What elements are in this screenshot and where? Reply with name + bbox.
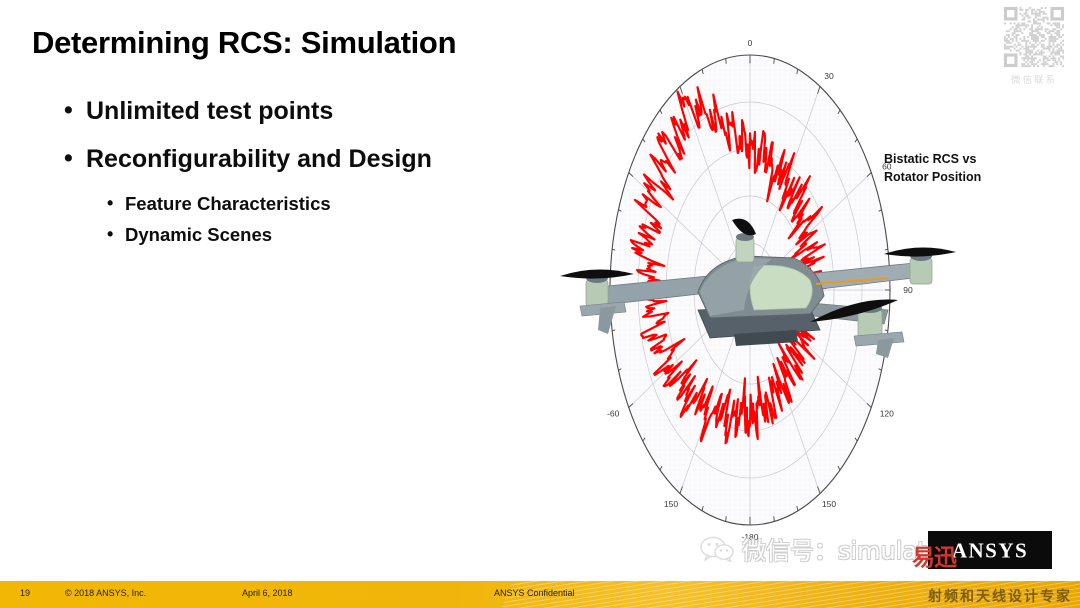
bullet-text: Feature Characteristics <box>125 194 331 215</box>
polar-angle-label: -60 <box>607 409 620 419</box>
bullet-item-4: • Dynamic Scenes <box>107 225 544 246</box>
slide-canvas: Determining RCS: Simulation • Unlimited … <box>0 0 1080 608</box>
polar-angle-label: 30 <box>824 71 834 81</box>
bullet-dot-icon: • <box>107 194 125 214</box>
bullet-list: • Unlimited test points • Reconfigurabil… <box>64 98 544 255</box>
qr-caption: 微信联系 <box>996 72 1072 86</box>
footer-cn-tagline: 射频和天线设计专家 <box>928 586 1072 606</box>
bullet-dot-icon: • <box>64 98 86 123</box>
callout-line-2: Rotator Position <box>884 168 981 186</box>
footer-copyright: © 2018 ANSYS, Inc. <box>65 588 146 598</box>
qr-code-icon <box>1002 5 1066 69</box>
bullet-item-2: • Reconfigurability and Design <box>64 146 544 173</box>
slide-footer: 19 © 2018 ANSYS, Inc. April 6, 2018 ANSY… <box>0 581 1080 608</box>
bullet-text: Unlimited test points <box>86 98 333 125</box>
footer-page-number: 19 <box>20 588 30 598</box>
red-chinese-overlay: 易迅 <box>912 538 956 572</box>
bullet-item-1: • Unlimited test points <box>64 98 544 125</box>
page-title: Determining RCS: Simulation <box>32 25 456 61</box>
polar-angle-label: 150 <box>664 499 678 509</box>
callout-line-1: Bistatic RCS vs <box>884 150 981 168</box>
wechat-icon <box>700 536 734 562</box>
bullet-item-3: • Feature Characteristics <box>107 194 544 215</box>
drone-motor-top <box>732 219 756 262</box>
footer-date: April 6, 2018 <box>242 588 293 598</box>
qr-watermark: 微信联系 <box>996 5 1072 86</box>
bullet-text: Dynamic Scenes <box>125 225 272 246</box>
drone-3d-model <box>558 218 958 358</box>
polar-angle-label: -180 <box>741 532 758 542</box>
chart-callout-label: Bistatic RCS vs Rotator Position <box>884 150 981 186</box>
drone-fin-right <box>876 338 894 358</box>
polar-angle-label: 150 <box>822 499 836 509</box>
ansys-logo-text: ANSYS <box>952 538 1028 563</box>
polar-angle-label: 120 <box>880 409 894 419</box>
bullet-dot-icon: • <box>64 146 86 171</box>
bullet-text: Reconfigurability and Design <box>86 146 432 173</box>
drone-fin-left <box>598 306 616 334</box>
bullet-dot-icon: • <box>107 225 125 245</box>
polar-angle-label: 0 <box>748 38 753 48</box>
footer-confidential: ANSYS Confidential <box>494 588 575 598</box>
